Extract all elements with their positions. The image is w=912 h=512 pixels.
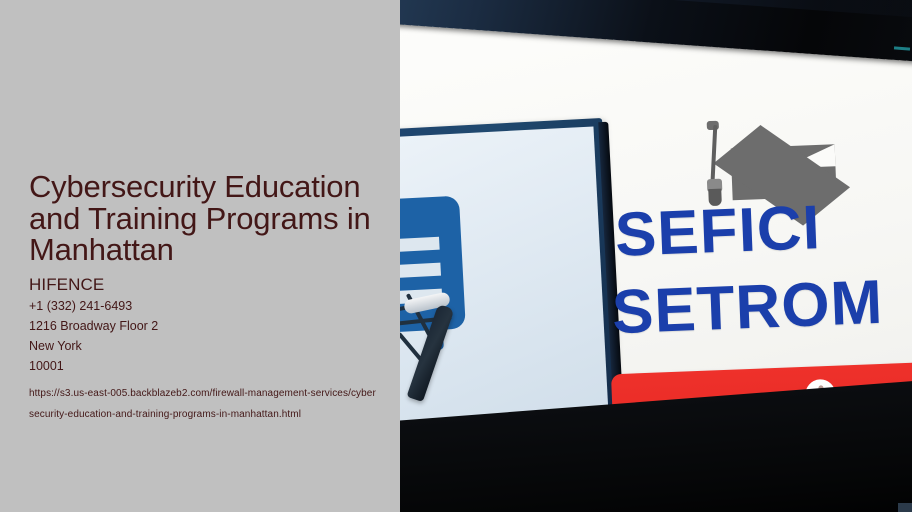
postal-code: 10001 (29, 356, 391, 376)
photo-panel: SEFICI SETROM (400, 0, 912, 512)
source-url[interactable]: https://s3.us-east-005.backblazeb2.com/f… (29, 383, 377, 425)
poster-headline-line-2: SETROM (611, 267, 885, 348)
corner-highlight (898, 503, 912, 512)
city-name: New York (29, 336, 391, 356)
cap-tassel-cord (710, 125, 717, 183)
info-panel: Cybersecurity Education and Training Pro… (0, 0, 400, 512)
company-name: HIFENCE (29, 274, 391, 296)
street-address: 1216 Broadway Floor 2 (29, 316, 391, 336)
poster-headline-line-1: SEFICI (614, 192, 822, 271)
page-title: Cybersecurity Education and Training Pro… (29, 171, 391, 266)
contact-block: HIFENCE +1 (332) 241-6493 1216 Broadway … (29, 274, 391, 376)
phone-number: +1 (332) 241-6493 (29, 296, 391, 316)
screenshot-root: Cybersecurity Education and Training Pro… (0, 0, 912, 512)
